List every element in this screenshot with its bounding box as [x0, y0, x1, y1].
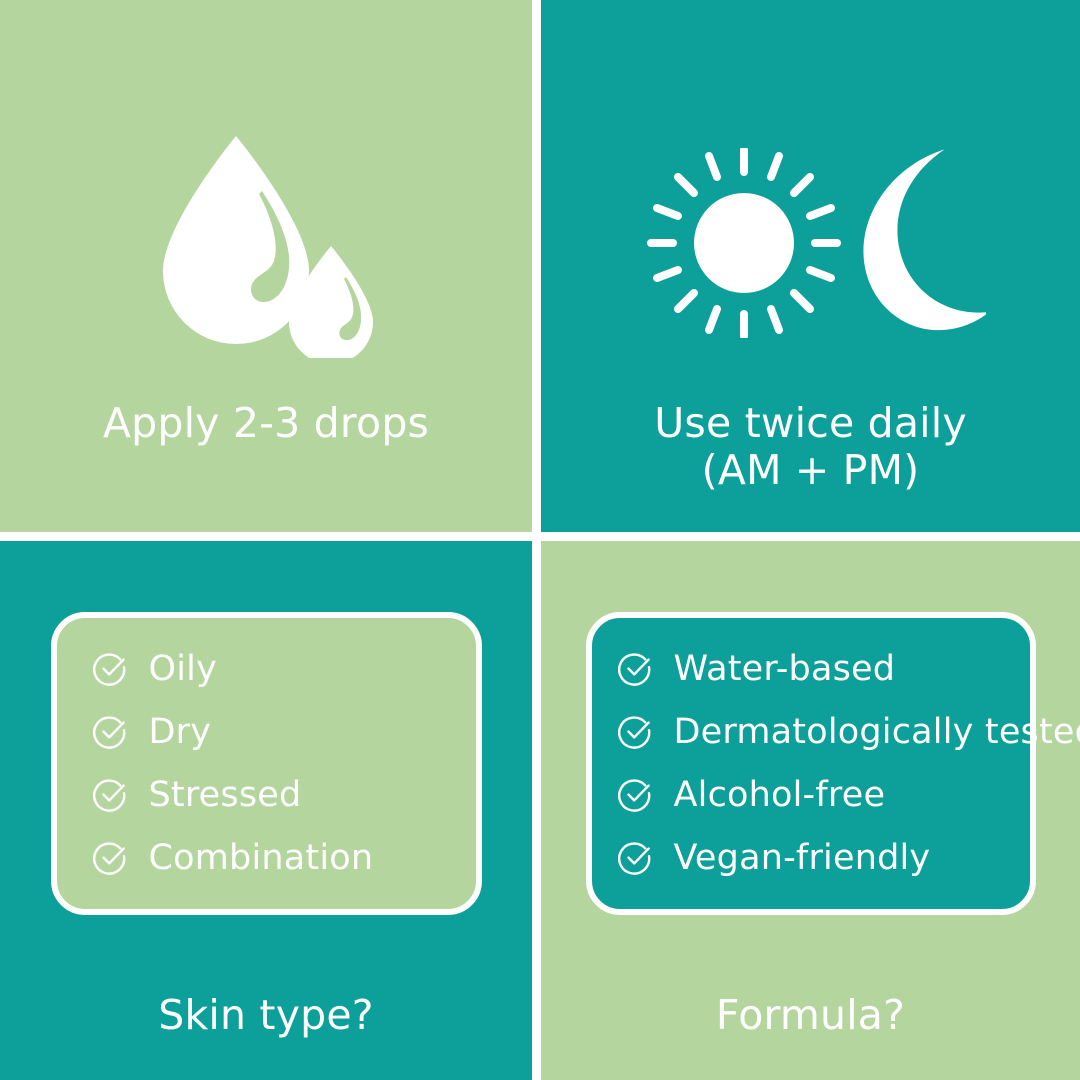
check-circle-icon — [93, 777, 129, 813]
list-item: Alcohol-free — [618, 764, 1030, 827]
panel-apply-caption: Apply 2-3 drops — [103, 400, 429, 447]
check-circle-icon — [93, 714, 129, 750]
water-drop-icon — [141, 128, 391, 358]
check-circle-icon — [93, 840, 129, 876]
panel-frequency-background: Use twice daily (AM + PM) — [541, 0, 1080, 532]
product-usage-infographic: Apply 2-3 drops — [0, 0, 1080, 1080]
panel-apply-drops: Apply 2-3 drops — [0, 0, 532, 532]
list-item: Combination — [93, 827, 476, 890]
panel-frequency: Use twice daily (AM + PM) — [532, 0, 1080, 532]
skin-type-checklist: Oily Dry Stressed — [51, 612, 482, 915]
panel-formula-footer: Formula? — [716, 995, 905, 1036]
list-item: Vegan-friendly — [618, 827, 1030, 890]
check-circle-icon — [618, 777, 654, 813]
check-circle-icon — [618, 840, 654, 876]
list-item-label: Oily — [149, 652, 218, 687]
list-item: Dry — [93, 701, 476, 764]
list-item-label: Combination — [149, 841, 374, 876]
list-item-label: Dermatologically tested — [674, 715, 1080, 750]
panel-skin-type-footer: Skin type? — [158, 995, 374, 1036]
sun-icon — [636, 148, 986, 338]
list-item-label: Vegan-friendly — [674, 841, 931, 876]
list-item: Dermatologically tested — [618, 701, 1030, 764]
check-circle-icon — [93, 651, 129, 687]
crescent-moon-icon — [853, 148, 986, 338]
panel-skin-type-background: Oily Dry Stressed — [0, 541, 532, 1080]
list-item-label: Dry — [149, 715, 212, 750]
list-item: Water-based — [618, 638, 1030, 701]
formula-checklist: Water-based Dermatologically tested — [586, 612, 1036, 915]
check-circle-icon — [618, 714, 654, 750]
sun-moon-icon-group — [636, 0, 986, 378]
panel-frequency-caption: Use twice daily (AM + PM) — [654, 400, 967, 493]
list-item-label: Water-based — [674, 652, 896, 687]
panel-apply-drops-background: Apply 2-3 drops — [0, 0, 532, 532]
list-item-label: Stressed — [149, 778, 302, 813]
panel-formula: Water-based Dermatologically tested — [532, 532, 1080, 1080]
list-item: Stressed — [93, 764, 476, 827]
list-item: Oily — [93, 638, 476, 701]
list-item-label: Alcohol-free — [674, 778, 886, 813]
check-circle-icon — [618, 651, 654, 687]
water-drops-icon-group — [141, 0, 391, 378]
panel-skin-type: Oily Dry Stressed — [0, 532, 532, 1080]
panel-formula-background: Water-based Dermatologically tested — [541, 541, 1080, 1080]
